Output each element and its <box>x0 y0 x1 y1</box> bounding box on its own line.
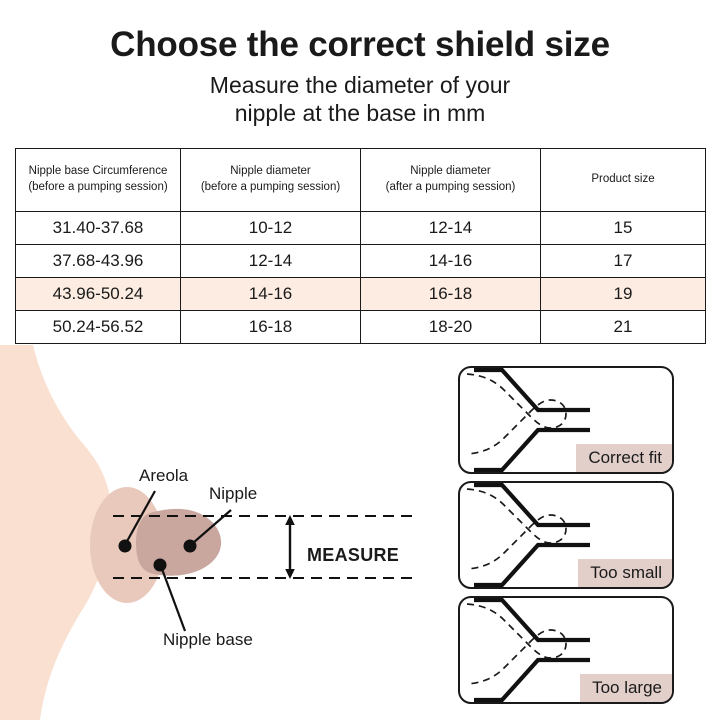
areola-callout-dot <box>119 540 132 553</box>
fit-panel-too-large: Too large <box>458 596 674 704</box>
cell-circumference: 31.40-37.68 <box>16 212 181 245</box>
column-header-diameter-before: Nipple diameter (before a pumping sessio… <box>181 149 361 212</box>
fit-label-badge: Too large <box>580 674 672 702</box>
cell-diameter-before: 16-18 <box>181 311 361 344</box>
cell-product-size: 21 <box>541 311 706 344</box>
column-header-line-2: (after a pumping session) <box>365 180 536 196</box>
anatomy-illustration <box>0 345 440 720</box>
cell-diameter-before: 12-14 <box>181 245 361 278</box>
column-header-line-2: (before a pumping session) <box>20 180 176 196</box>
table-row-highlighted: 43.96-50.24 14-16 16-18 19 <box>16 278 706 311</box>
cell-circumference: 37.68-43.96 <box>16 245 181 278</box>
page-header: Choose the correct shield size Measure t… <box>0 0 720 127</box>
flange-lower-wall <box>474 545 590 585</box>
cell-diameter-after: 14-16 <box>361 245 541 278</box>
flange-upper-wall <box>474 485 590 525</box>
flange-upper-wall <box>474 600 590 640</box>
nipple-base-callout-dot <box>154 559 167 572</box>
table-body: 31.40-37.68 10-12 12-14 15 37.68-43.96 1… <box>16 212 706 344</box>
flange-upper-wall <box>474 370 590 410</box>
page-subtitle: Measure the diameter of your nipple at t… <box>0 64 720 127</box>
shield-size-table: Nipple base Circumference (before a pump… <box>15 148 706 344</box>
table-header-row: Nipple base Circumference (before a pump… <box>16 149 706 212</box>
cell-diameter-after: 16-18 <box>361 278 541 311</box>
cell-circumference: 50.24-56.52 <box>16 311 181 344</box>
fit-label-badge: Too small <box>578 559 672 587</box>
cell-product-size: 15 <box>541 212 706 245</box>
cell-product-size: 17 <box>541 245 706 278</box>
column-header-line-2: (before a pumping session) <box>185 180 356 196</box>
fit-label-badge: Correct fit <box>576 444 672 472</box>
table-header: Nipple base Circumference (before a pump… <box>16 149 706 212</box>
table-row: 37.68-43.96 12-14 14-16 17 <box>16 245 706 278</box>
column-header-diameter-after: Nipple diameter (after a pumping session… <box>361 149 541 212</box>
column-header-line-1: Nipple diameter <box>365 164 536 180</box>
nipple-shape-icon <box>136 509 221 576</box>
cell-diameter-after: 18-20 <box>361 311 541 344</box>
cell-circumference: 43.96-50.24 <box>16 278 181 311</box>
table-row: 31.40-37.68 10-12 12-14 15 <box>16 212 706 245</box>
page-title: Choose the correct shield size <box>0 0 720 64</box>
label-nipple: Nipple <box>209 484 257 504</box>
table-row: 50.24-56.52 16-18 18-20 21 <box>16 311 706 344</box>
flange-lower-wall <box>474 660 590 700</box>
label-measure: MEASURE <box>307 545 399 566</box>
label-areola: Areola <box>139 466 188 486</box>
fit-panel-correct-fit: Correct fit <box>458 366 674 474</box>
cell-diameter-after: 12-14 <box>361 212 541 245</box>
label-nipple-base: Nipple base <box>163 630 253 650</box>
column-header-line-1: Nipple base Circumference <box>20 164 176 180</box>
cell-product-size: 19 <box>541 278 706 311</box>
fit-panel-too-small: Too small <box>458 481 674 589</box>
cell-diameter-before: 10-12 <box>181 212 361 245</box>
column-header-line-1: Product size <box>545 172 701 188</box>
breast-anatomy-diagram <box>0 345 440 720</box>
column-header-product-size: Product size <box>541 149 706 212</box>
measure-arrow-icon <box>285 515 295 579</box>
column-header-line-1: Nipple diameter <box>185 164 356 180</box>
subtitle-line-2: nipple at the base in mm <box>0 99 720 127</box>
column-header-circumference: Nipple base Circumference (before a pump… <box>16 149 181 212</box>
cell-diameter-before: 14-16 <box>181 278 361 311</box>
nipple-callout-dot <box>184 540 197 553</box>
subtitle-line-1: Measure the diameter of your <box>0 71 720 99</box>
flange-lower-wall <box>474 430 590 470</box>
